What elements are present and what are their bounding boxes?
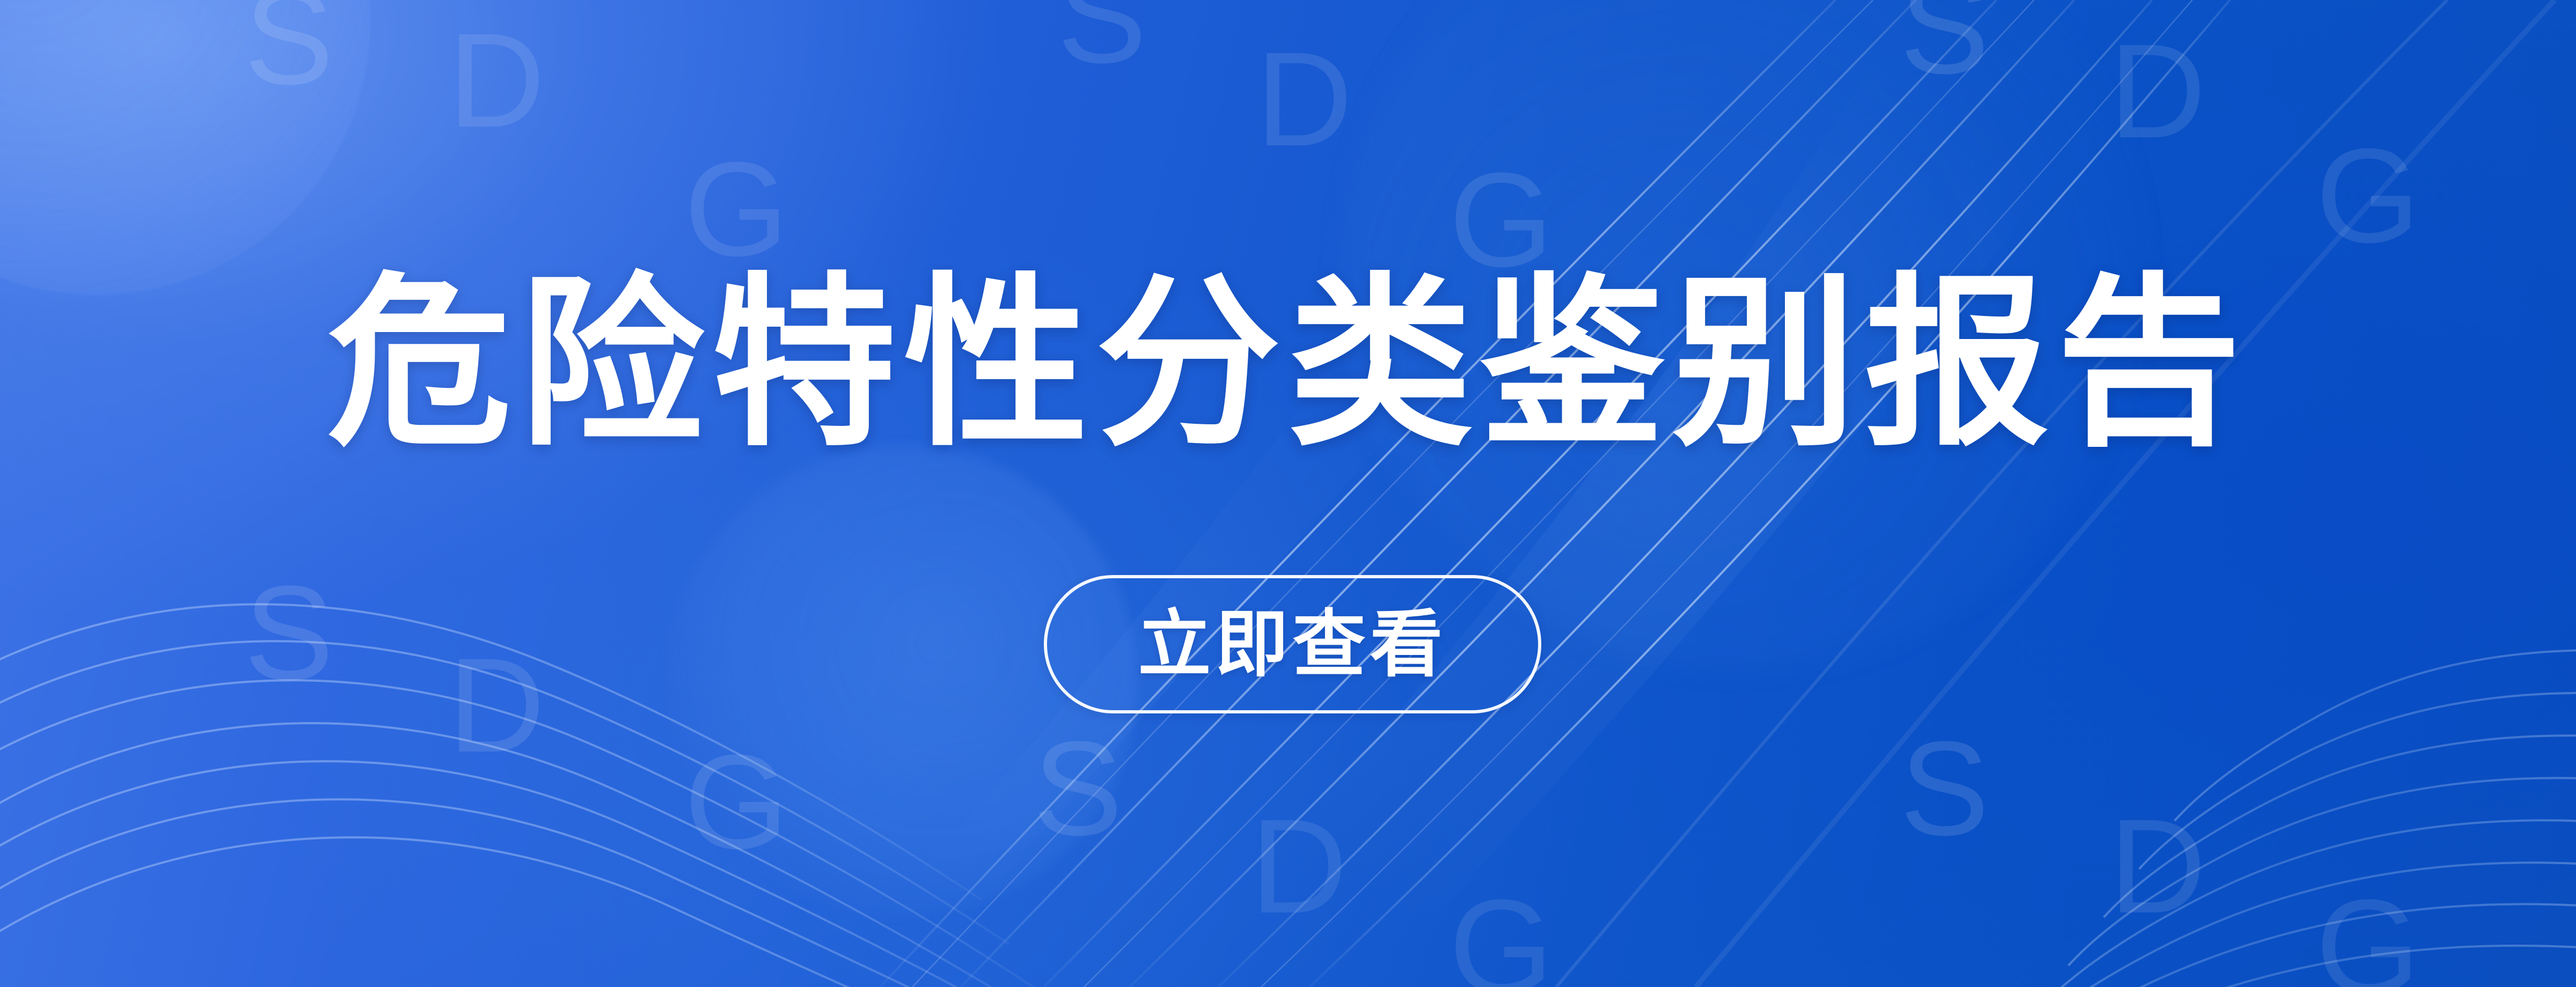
banner-title: 危险特性分类鉴别报告	[0, 271, 2576, 456]
banner-content: 危险特性分类鉴别报告 立即查看	[0, 0, 2576, 987]
promo-banner: SDGSDGSDGSDGSDGSDG 危险特性分类鉴别报告 立即查看	[0, 0, 2576, 987]
view-now-button[interactable]: 立即查看	[1044, 575, 1541, 713]
view-now-button-label: 立即查看	[1138, 608, 1447, 681]
